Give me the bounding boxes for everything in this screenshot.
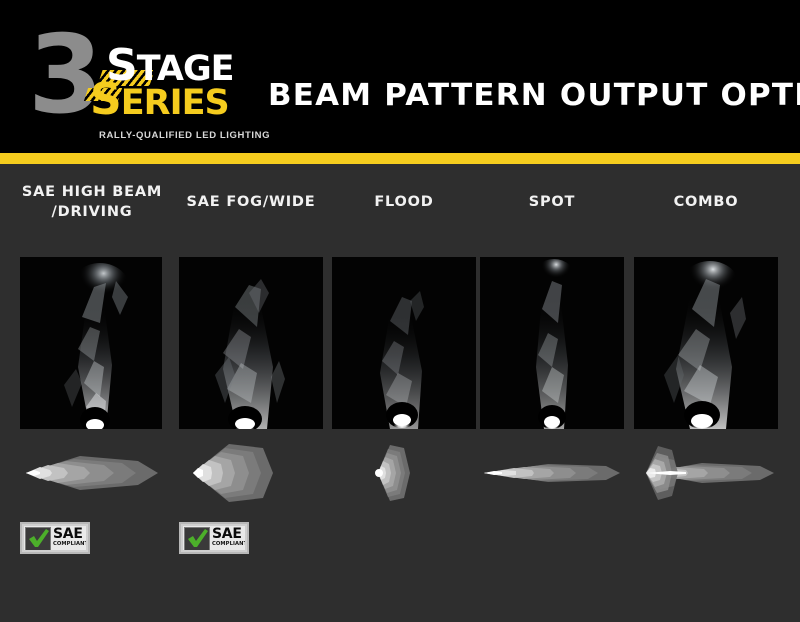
column-label-line1: SPOT [478,192,626,212]
beam-column-flood: FLOOD [330,164,478,622]
beam-diagram-combo [632,442,780,504]
column-label-line2: /DRIVING [18,202,166,222]
sae-badge-text: SAE COMPLIANT [53,527,86,548]
beam-column-sae-fog-wide: SAE FOG/WIDE [177,164,325,622]
logo-tagline: RALLY-QUALIFIED LED LIGHTING [99,130,270,141]
beam-photo-flood [332,257,476,429]
column-label-line1: COMBO [632,192,780,212]
beam-photo-spot [480,257,624,429]
sae-badge-inner: SAE COMPLIANT [183,526,245,550]
checkmark-icon [25,527,51,550]
beam-columns: SAE HIGH BEAM /DRIVING [0,164,800,622]
column-label: FLOOD [330,192,478,212]
column-label-line1: SAE HIGH BEAM [18,182,166,202]
column-label: SPOT [478,192,626,212]
sae-badge-inner: SAE COMPLIANT [24,526,86,550]
sae-badge-title: SAE [212,527,245,541]
beam-diagram-spot [478,442,626,504]
checkmark-icon [184,527,210,550]
logo-series-cap: S [90,74,121,125]
stage-series-logo: 3 STAGE SERIES RALLY-QUALIFIED LED LIGHT… [28,26,238,131]
sae-badge-title: SAE [53,527,86,541]
column-label: SAE FOG/WIDE [177,192,325,212]
page-title: BEAM PATTERN OUTPUT OPTIONS [268,78,800,113]
logo-word-series: SERIES [90,82,229,121]
sae-compliant-badge: SAE COMPLIANT [20,522,90,554]
column-label: COMBO [632,192,780,212]
beam-column-sae-high-beam-driving: SAE HIGH BEAM /DRIVING [18,164,166,622]
header-bar: 3 STAGE SERIES RALLY-QUALIFIED LED LIGHT… [0,0,800,153]
sae-badge-subtitle: COMPLIANT [53,541,86,548]
logo-numeral-3: 3 [28,22,99,130]
beam-diagram-sae-fog-wide [177,442,325,504]
beam-column-spot: SPOT [478,164,626,622]
beam-photo-sae-fog-wide [179,257,323,429]
beam-pattern-infographic: 3 STAGE SERIES RALLY-QUALIFIED LED LIGHT… [0,0,800,622]
beam-photo-combo [634,257,778,429]
beam-column-combo: COMBO [632,164,780,622]
column-label-line1: FLOOD [330,192,478,212]
sae-badge-text: SAE COMPLIANT [212,527,245,548]
logo-series-rest: ERIES [121,83,229,123]
sae-compliant-badge: SAE COMPLIANT [179,522,249,554]
column-label: SAE HIGH BEAM /DRIVING [18,182,166,222]
beam-diagram-sae-high-beam-driving [18,442,166,504]
column-label-line1: SAE FOG/WIDE [177,192,325,212]
beam-diagram-flood [330,442,478,504]
sae-badge-subtitle: COMPLIANT [212,541,245,548]
gold-divider [0,153,800,164]
beam-photo-sae-high-beam-driving [20,257,162,429]
